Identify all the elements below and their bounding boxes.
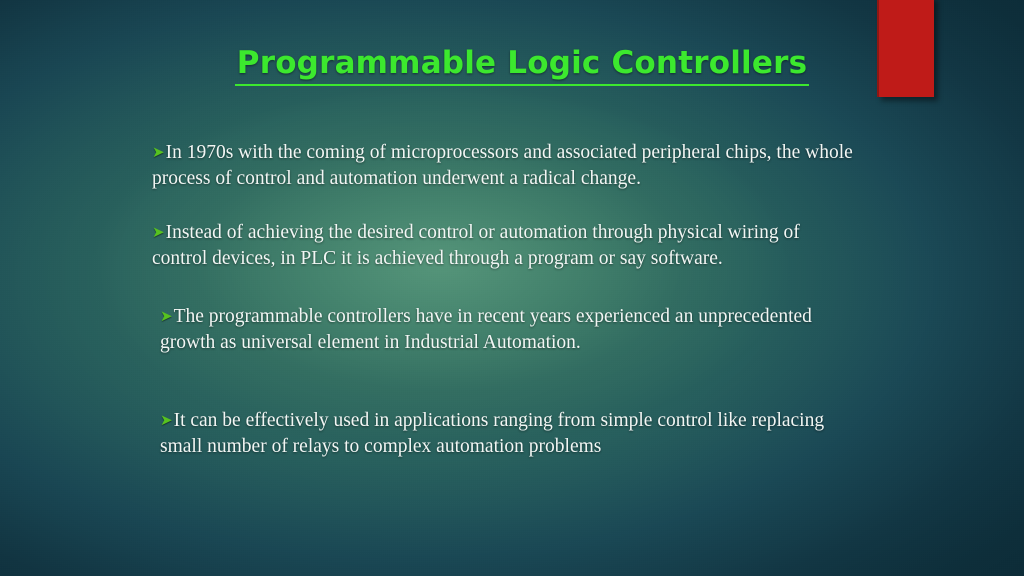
bullet-item-2-text: Instead of achieving the desired control… [152,222,800,269]
arrow-bullet-icon: ➤ [160,310,173,325]
spacer-2 [152,272,858,304]
bullet-item-3: ➤The programmable controllers have in re… [152,304,858,356]
bullet-item-2: ➤Instead of achieving the desired contro… [152,220,858,272]
bullet-item-3-text: The programmable controllers have in rec… [160,306,812,353]
bullet-item-1-text: In 1970s with the coming of microprocess… [152,142,853,189]
spacer-3 [152,356,858,408]
bullet-item-4-text: It can be effectively used in applicatio… [160,410,824,457]
slide-title: Programmable Logic Controllers [0,45,1024,86]
arrow-bullet-icon: ➤ [152,226,165,241]
bullet-item-1: ➤In 1970s with the coming of microproces… [152,140,858,192]
bullet-item-4: ➤It can be effectively used in applicati… [152,408,858,460]
spacer-1 [152,192,858,220]
arrow-bullet-icon: ➤ [160,414,173,429]
slide-title-text: Programmable Logic Controllers [235,45,809,86]
slide-body: ➤In 1970s with the coming of microproces… [152,140,858,460]
arrow-bullet-icon: ➤ [152,146,165,161]
presentation-slide: Programmable Logic Controllers ➤In 1970s… [0,0,1024,576]
